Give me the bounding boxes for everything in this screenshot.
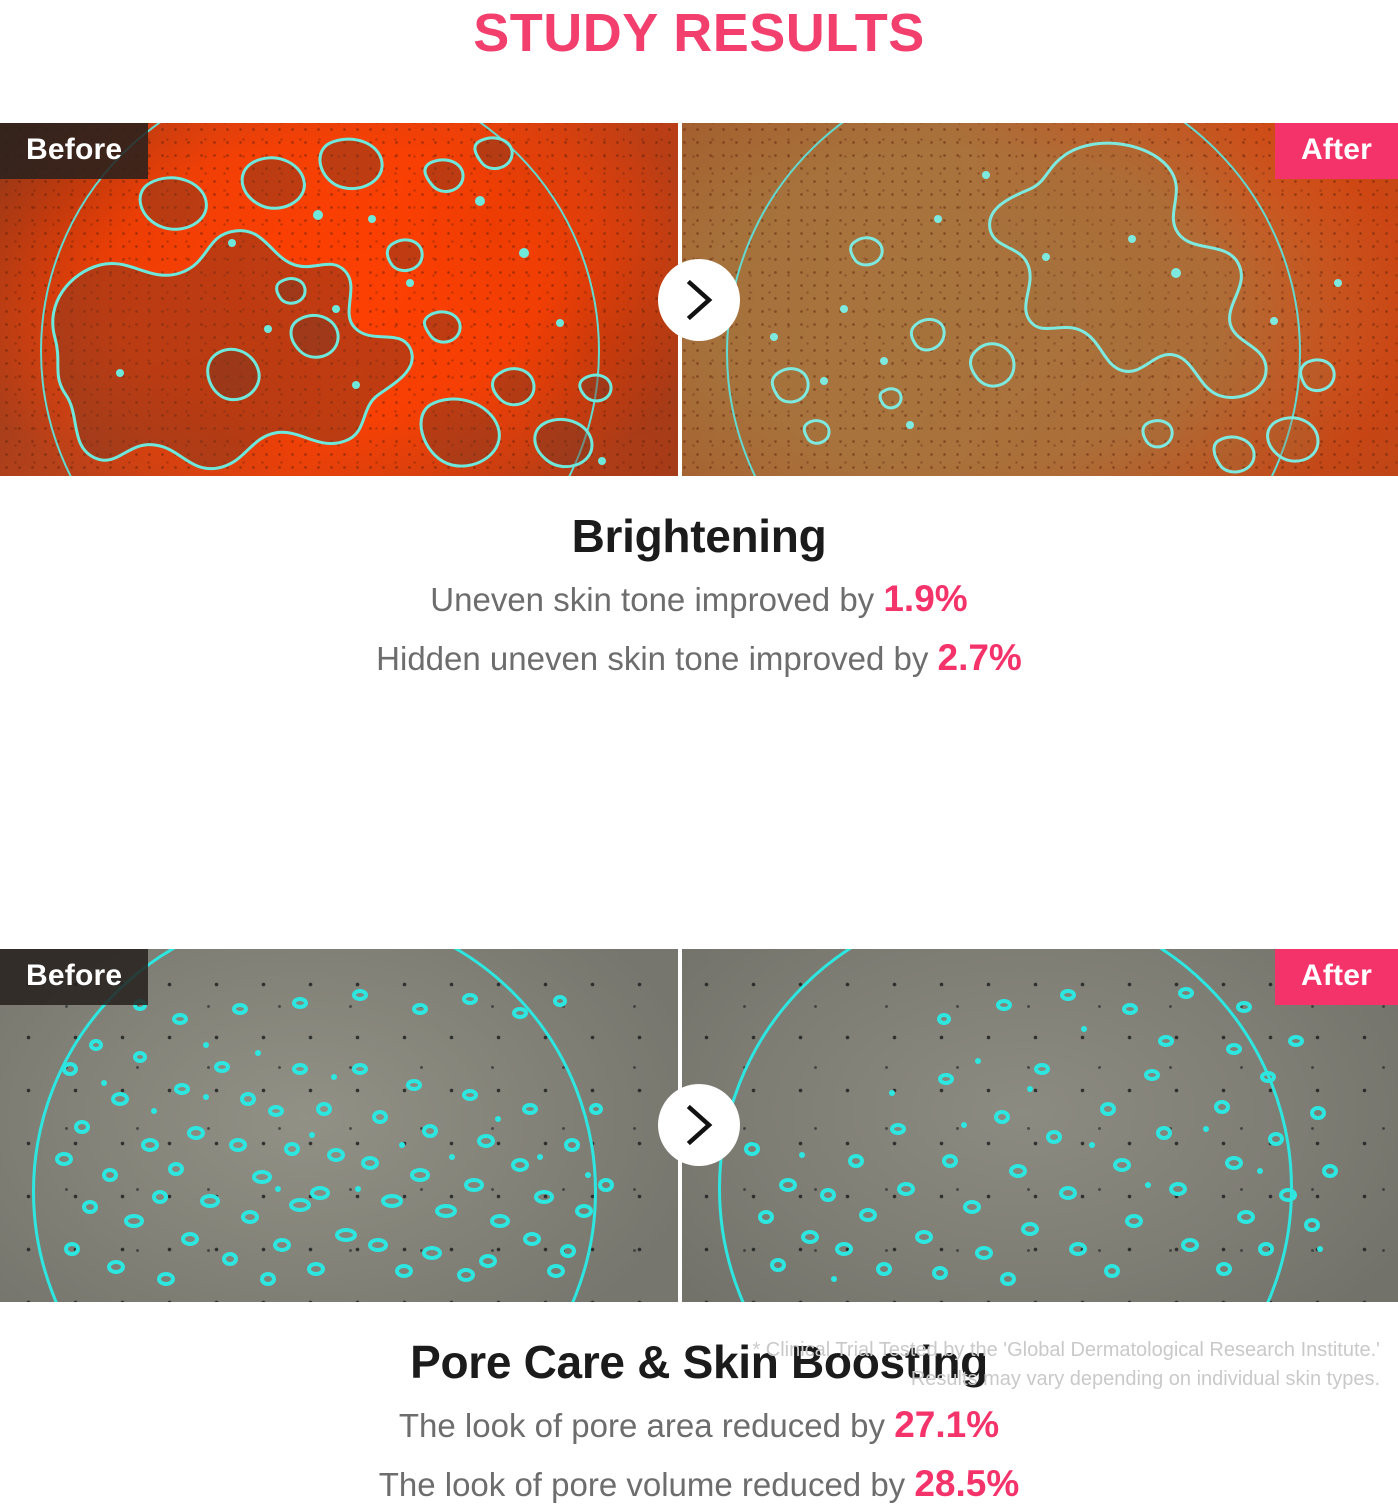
- result-heading: Brightening: [0, 476, 1398, 563]
- result-line-text: Uneven skin tone improved by: [430, 581, 874, 618]
- image-before-pore: Before: [0, 949, 678, 1302]
- badge-after: After: [1275, 949, 1398, 1005]
- chevron-right-icon: [684, 1104, 714, 1146]
- badge-before: Before: [0, 949, 148, 1005]
- footnote-line-1: * Clinical Trial Tested by the 'Global D…: [752, 1336, 1380, 1364]
- comparison-brightening: Before: [0, 123, 1398, 476]
- footnote: * Clinical Trial Tested by the 'Global D…: [752, 1336, 1380, 1393]
- badge-before: Before: [0, 123, 148, 179]
- chevron-right-icon: [684, 279, 714, 321]
- result-line-text: Hidden uneven skin tone improved by: [376, 640, 928, 677]
- page-title: STUDY RESULTS: [0, 0, 1398, 60]
- result-line: The look of pore volume reduced by 28.5%: [0, 1448, 1398, 1507]
- before-after-arrow[interactable]: [658, 1084, 740, 1166]
- result-line-text: The look of pore volume reduced by: [379, 1466, 905, 1503]
- badge-after: After: [1275, 123, 1398, 179]
- image-before-brightening: Before: [0, 123, 678, 476]
- result-line: The look of pore area reduced by 27.1%: [0, 1389, 1398, 1448]
- result-brightening: Brightening Uneven skin tone improved by…: [0, 476, 1398, 682]
- result-pore-care: Pore Care & Skin Boosting The look of po…: [0, 1302, 1398, 1507]
- footnote-line-2: Results may vary depending on individual…: [752, 1365, 1380, 1393]
- result-value: 27.1%: [894, 1404, 999, 1445]
- image-after-pore: After: [678, 949, 1398, 1302]
- before-after-arrow[interactable]: [658, 259, 740, 341]
- result-line: Hidden uneven skin tone improved by 2.7%: [0, 622, 1398, 681]
- comparison-pore-care: Before: [0, 949, 1398, 1302]
- result-line: Uneven skin tone improved by 1.9%: [0, 563, 1398, 622]
- result-value: 1.9%: [883, 578, 967, 619]
- result-line-text: The look of pore area reduced by: [399, 1407, 885, 1444]
- result-value: 2.7%: [938, 637, 1022, 678]
- result-value: 28.5%: [914, 1463, 1019, 1504]
- image-after-brightening: After: [678, 123, 1398, 476]
